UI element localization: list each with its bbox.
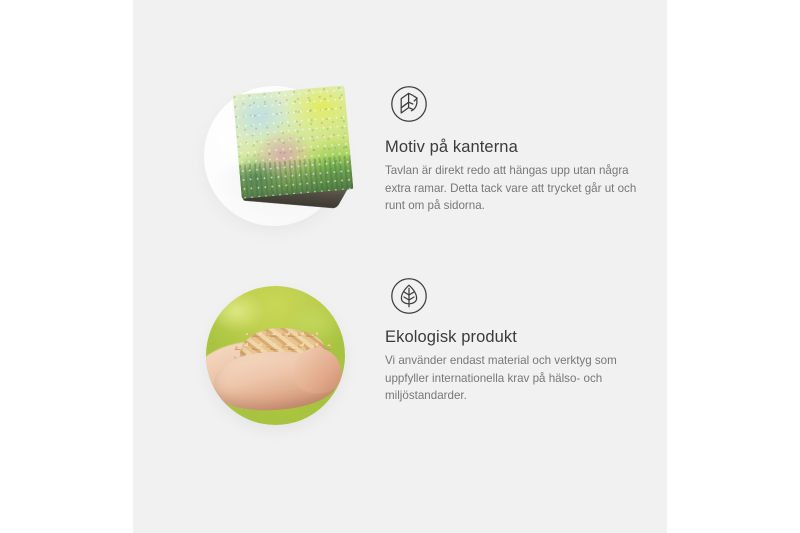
feature-text-canvas-edges: Motiv på kanterna Tavlan är direkt redo … <box>385 138 653 215</box>
canvas-block <box>233 85 356 220</box>
content-panel: Motiv på kanterna Tavlan är direkt redo … <box>133 0 667 533</box>
feature-description: Vi använder endast material och verktyg … <box>385 352 653 405</box>
feature-row-eco-product: Ekologisk produkt Vi använder endast mat… <box>133 272 667 452</box>
feature-text-eco-product: Ekologisk produkt Vi använder endast mat… <box>385 328 653 405</box>
feature-description: Tavlan är direkt redo att hängas upp uta… <box>385 162 653 215</box>
canvas-wrapped-edge-icon <box>385 80 433 128</box>
canvas-printed-face <box>233 85 354 198</box>
feature-title: Motiv på kanterna <box>385 138 653 157</box>
product-feature-page: Motiv på kanterna Tavlan är direkt redo … <box>0 0 800 533</box>
canvas-print-image <box>204 86 344 226</box>
leaf-icon <box>385 272 433 320</box>
feature-title: Ekologisk produkt <box>385 328 653 347</box>
feature-row-canvas-edges: Motiv på kanterna Tavlan är direkt redo … <box>133 80 667 260</box>
eco-product-image <box>206 286 345 425</box>
